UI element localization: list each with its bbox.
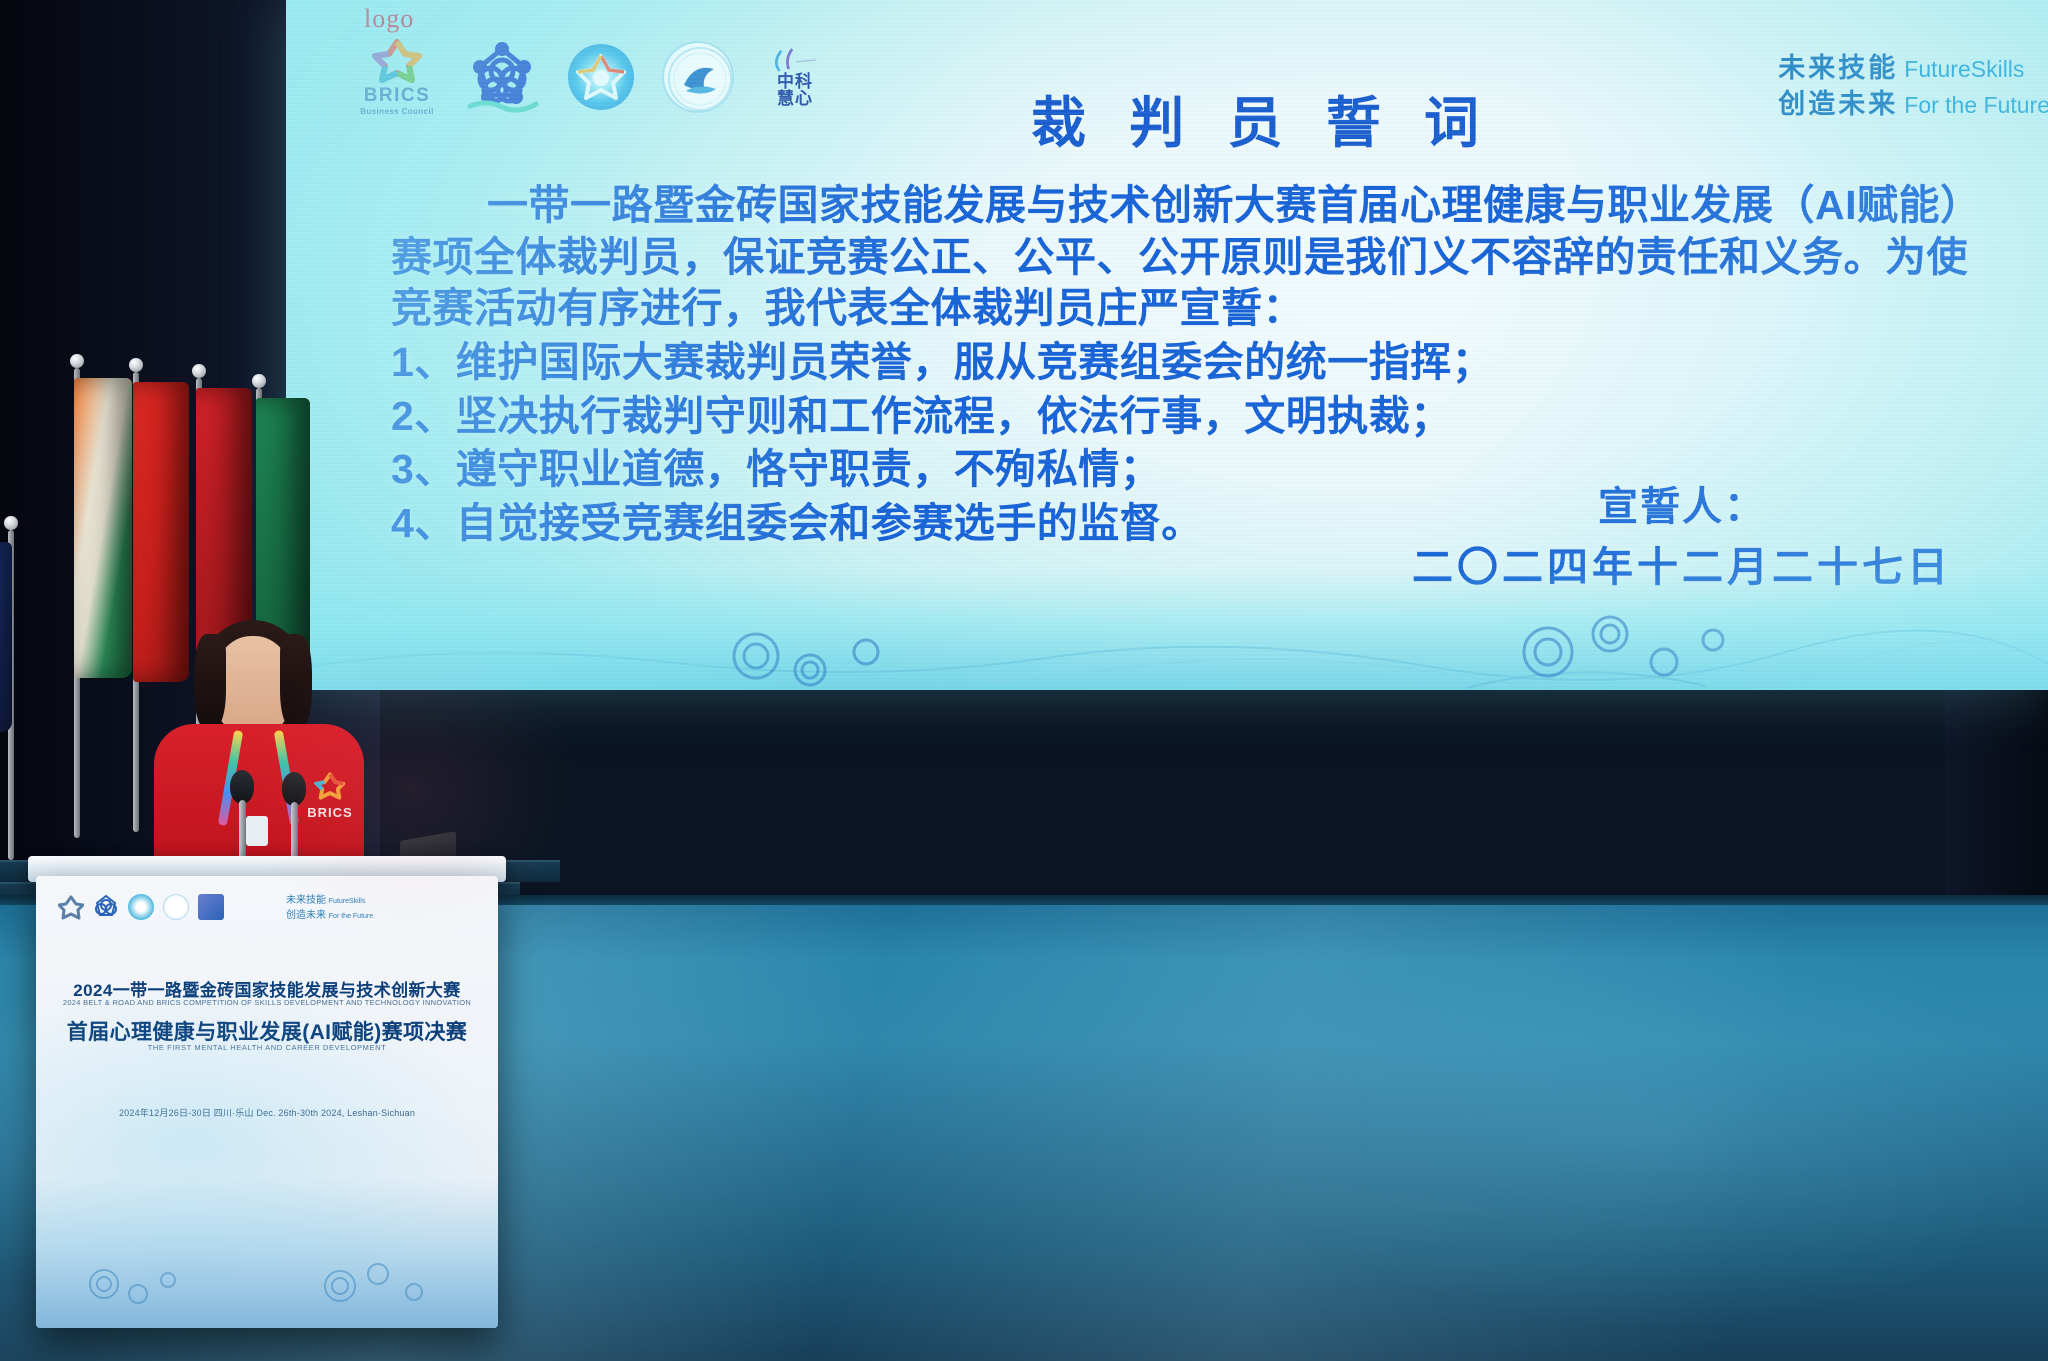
podium-logo-row [58,894,224,920]
podium-globe-logo [128,894,154,920]
podium-subtitle-cn: 首届心理健康与职业发展(AI赋能)赛项决赛 [36,1016,498,1046]
stage-scene: logo BRICS Business Council [0,0,2048,1361]
podium-fs-en-2: For the Future [329,913,373,920]
podium-title-en: 2024 BELT & ROAD AND BRICS COMPETITION O… [36,998,498,1007]
oath-paragraph: 一带一路暨金砖国家技能发展与技术创新大赛首届心理健康与职业发展（AI赋能）赛项全… [391,180,1981,335]
speaker-brics-emblem: BRICS [300,772,360,820]
speaker-badge [246,816,268,846]
podium-zhongke-logo [198,894,224,920]
slide-gear-cluster-left [706,608,1126,688]
podium-gear-right [306,1250,456,1314]
podium-seal-logo [163,894,189,920]
speaker-brics-text: BRICS [300,805,360,820]
signature-label: 宣誓人： [1412,477,1952,537]
podium-subtitle-en: THE FIRST MENTAL HEALTH AND CAREER DEVEL… [36,1043,498,1052]
projection-screen: logo BRICS Business Council [286,0,2048,690]
signature-date: 二〇二四年十二月二十七日 [1412,537,1952,599]
podium-molecular-logo [93,894,119,920]
podium: 未来技能 FutureSkills 创造未来 For the Future 20… [36,876,498,1328]
oath-item-1: 1、维护国际大赛裁判员荣誉，服从竞赛组委会的统一指挥； [391,337,1981,389]
podium-fs-en-1: FutureSkills [329,898,366,905]
podium-fs-cn-2: 创造未来 [286,910,326,921]
podium-brics-logo [58,894,84,920]
slide-gear-cluster-right [1488,600,1818,690]
podium-fs-cn-1: 未来技能 [286,895,326,906]
signature-block: 宣誓人： 二〇二四年十二月二十七日 [1412,477,1952,599]
podium-futureskills: 未来技能 FutureSkills 创造未来 For the Future [286,894,373,923]
logo-placeholder-text: logo [364,4,414,34]
podium-gear-left [76,1250,206,1310]
speaker-hair-right [280,634,312,730]
oath-item-2: 2、坚决执行裁判守则和工作流程，依法行事，文明执裁； [391,391,1981,443]
slide-title: 裁 判 员 誓 词 [286,78,2048,158]
podium-date-line: 2024年12月26日-30日 四川·乐山 Dec. 26th-30th 202… [36,1106,498,1119]
speaker-hair-left [194,634,226,730]
